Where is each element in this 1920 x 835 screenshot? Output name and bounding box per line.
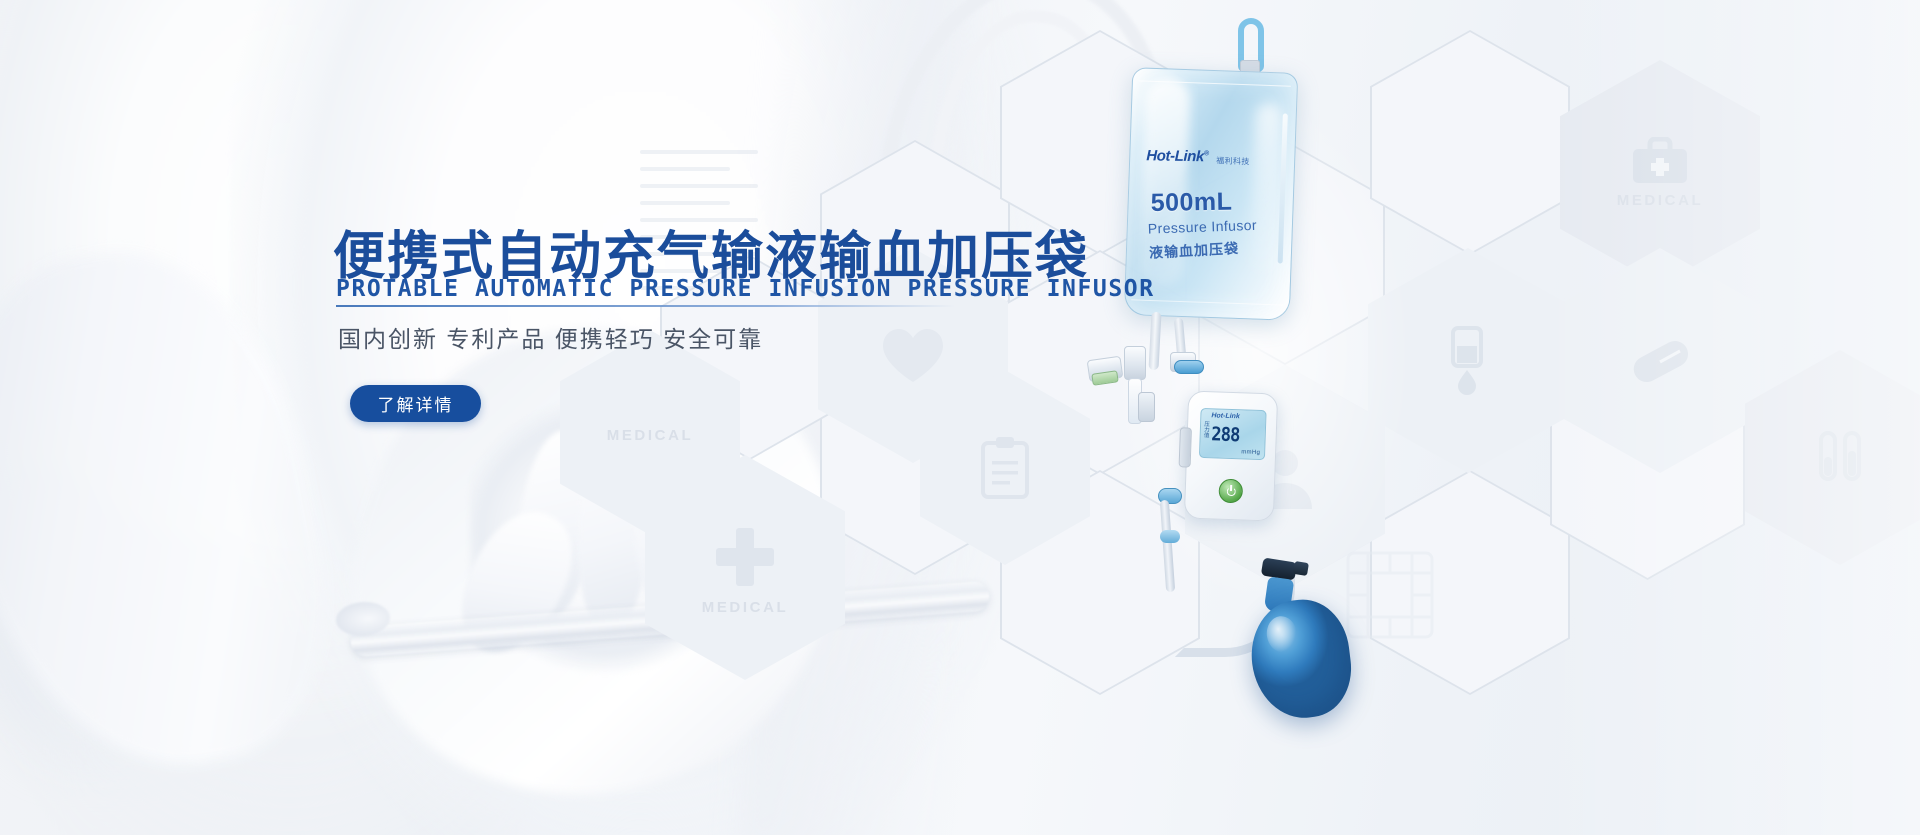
screen-brand-text: Hot-Link [1211,412,1240,420]
pressure-unit-label: mmHg [1241,449,1260,456]
screen-side-label: 压力值 [1202,421,1211,438]
tube-connector [1124,346,1146,380]
iv-tube-lower [1160,500,1175,592]
bulb-valve-knob [1293,561,1309,576]
blue-clamp [1174,360,1204,374]
page-tagline: 国内创新 专利产品 便携轻巧 安全可靠 [338,320,763,354]
pressure-monitor-device: 压力值 Hot-Link 288 mmHg [1184,390,1278,521]
device-power-button[interactable] [1218,479,1243,504]
bag-name-en-text: Pressure Infusor [1148,217,1258,237]
bag-volume-text: 500mL [1150,188,1232,218]
page-subtitle: PROTABLE AUTOMATIC PRESSURE INFUSION PRE… [336,276,1155,302]
roller-clamp [1138,392,1155,422]
hero-banner: MEDICAL [0,0,1920,835]
device-screen: 压力值 Hot-Link 288 mmHg [1199,408,1267,460]
bag-brand-text: Hot-Link® [1146,147,1209,165]
pressure-reading-value: 288 [1211,423,1240,446]
subtitle-underline [336,305,955,307]
bulb-highlight [1265,614,1299,653]
power-icon [1226,486,1235,495]
iv-tube-main [1148,312,1161,370]
device-mount-clip [1179,427,1192,467]
green-valve-cap [1091,370,1118,386]
learn-more-button[interactable]: 了解详情 [350,385,481,422]
blue-clamp [1160,530,1180,543]
bag-name-cn-text: 液输血加压袋 [1149,238,1240,263]
bag-brand-cn-text: 福利科技 [1216,155,1250,167]
product-assembly: Hot-Link® 福利科技 500mL Pressure Infusor 液输… [0,0,1920,835]
